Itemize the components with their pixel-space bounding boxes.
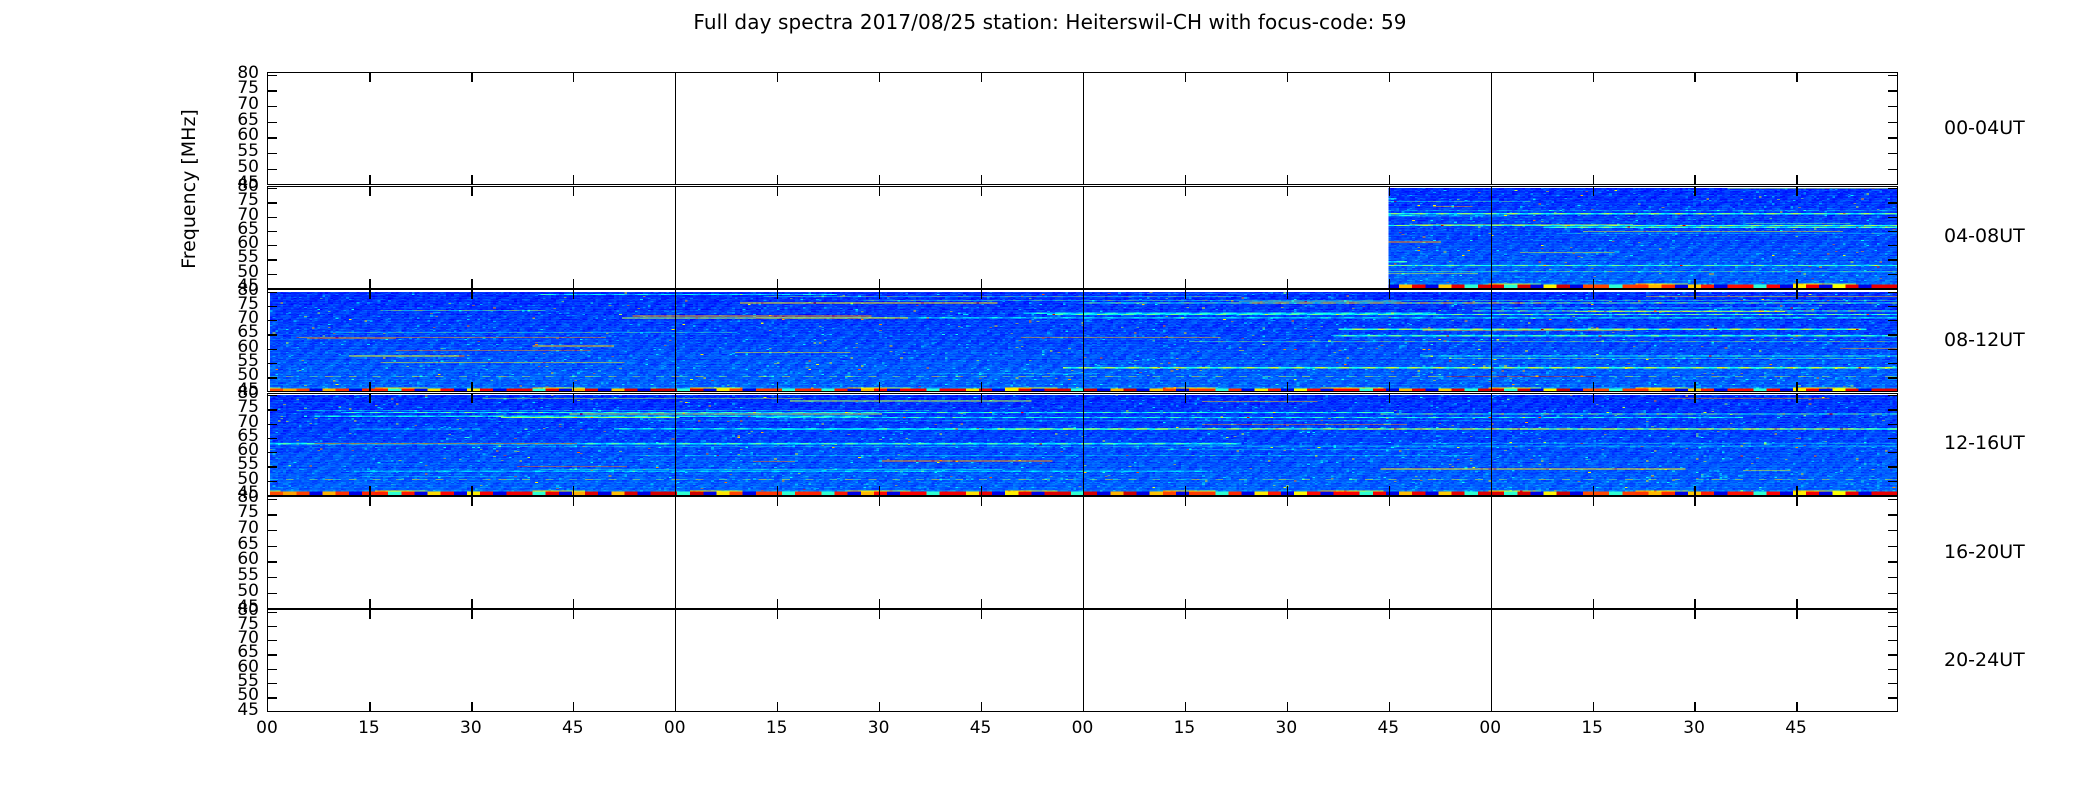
x-tick-mark	[471, 382, 472, 391]
spectrogram-figure: Full day spectra 2017/08/25 station: Hei…	[0, 0, 2100, 800]
y-tick-mark	[268, 259, 277, 260]
x-tick-mark	[1694, 279, 1695, 288]
x-tick-mark	[879, 599, 880, 608]
x-tick-mark	[1796, 497, 1797, 506]
x-tick-mark	[981, 486, 982, 495]
x-tick-mark	[1287, 290, 1288, 299]
x-tick-label: 45	[1366, 718, 1410, 738]
y-tick-mark	[1888, 712, 1897, 713]
x-tick-mark	[1287, 187, 1288, 196]
y-tick-mark	[268, 409, 277, 410]
x-tick-mark	[1694, 73, 1695, 82]
y-tick-mark	[1888, 654, 1897, 655]
y-tick-mark	[268, 577, 277, 578]
panel-time-label-16-20ut: 16-20UT	[1944, 541, 2025, 563]
x-tick-mark	[879, 73, 880, 82]
y-tick-mark	[268, 481, 277, 482]
spectrogram-panel-04-08ut[interactable]	[267, 186, 1898, 289]
y-tick-mark	[268, 499, 277, 500]
x-tick-label: 30	[1264, 718, 1308, 738]
y-tick-mark	[1888, 409, 1897, 410]
y-tick-mark	[1888, 169, 1897, 170]
x-tick-mark	[675, 702, 676, 711]
x-tick-mark	[1287, 497, 1288, 506]
y-tick-mark	[268, 626, 277, 627]
x-tick-mark	[777, 279, 778, 288]
x-tick-mark	[573, 175, 574, 184]
hour-gridline	[1491, 290, 1492, 391]
panel-time-label-04-08ut: 04-08UT	[1944, 225, 2025, 247]
x-tick-mark	[1593, 382, 1594, 391]
x-tick-mark	[1491, 382, 1492, 391]
x-tick-mark	[1796, 702, 1797, 711]
x-tick-mark	[1796, 486, 1797, 495]
x-tick-mark	[1491, 394, 1492, 403]
x-tick-mark	[1694, 599, 1695, 608]
x-tick-mark	[1083, 610, 1084, 619]
y-tick-mark	[1888, 188, 1897, 189]
x-tick-mark	[1491, 73, 1492, 82]
y-tick-mark	[268, 424, 277, 425]
x-tick-mark	[573, 394, 574, 403]
x-tick-mark	[981, 394, 982, 403]
x-tick-mark	[471, 73, 472, 82]
y-tick-mark	[268, 654, 277, 655]
x-tick-mark	[675, 290, 676, 299]
x-tick-mark	[471, 610, 472, 619]
x-tick-mark	[1389, 382, 1390, 391]
x-tick-mark	[777, 175, 778, 184]
x-tick-label: 45	[959, 718, 1003, 738]
hour-gridline	[675, 394, 676, 495]
x-tick-mark	[981, 702, 982, 711]
y-tick-mark	[268, 697, 277, 698]
x-tick-mark	[879, 290, 880, 299]
y-tick-mark	[268, 349, 277, 350]
x-tick-mark	[369, 486, 370, 495]
spectrogram-panel-08-12ut[interactable]	[267, 289, 1898, 392]
x-tick-mark	[675, 599, 676, 608]
x-tick-mark	[1287, 486, 1288, 495]
y-tick-label: 45	[213, 702, 259, 719]
x-tick-mark	[1185, 73, 1186, 82]
hour-gridline	[1491, 187, 1492, 288]
x-tick-mark	[879, 702, 880, 711]
y-tick-mark	[268, 334, 277, 335]
x-tick-mark	[369, 279, 370, 288]
y-tick-mark	[268, 274, 277, 275]
x-tick-mark	[981, 187, 982, 196]
y-axis-label: Frequency [MHz]	[178, 59, 200, 319]
x-tick-mark	[675, 394, 676, 403]
hour-gridline	[1083, 497, 1084, 608]
y-tick-mark	[1888, 697, 1897, 698]
x-tick-mark	[777, 702, 778, 711]
x-tick-mark	[1694, 187, 1695, 196]
x-tick-mark	[369, 382, 370, 391]
spectrogram-panel-20-24ut[interactable]	[267, 609, 1898, 712]
hour-gridline	[1083, 187, 1084, 288]
y-tick-mark	[1888, 75, 1897, 76]
x-tick-label: 15	[347, 718, 391, 738]
x-tick-mark	[1083, 175, 1084, 184]
y-tick-mark	[1888, 259, 1897, 260]
x-tick-label: 00	[245, 718, 289, 738]
x-tick-mark	[1185, 702, 1186, 711]
hour-gridline	[1083, 394, 1084, 495]
x-tick-mark	[573, 497, 574, 506]
y-tick-mark	[1888, 292, 1897, 293]
x-tick-mark	[981, 610, 982, 619]
x-tick-mark	[1694, 486, 1695, 495]
x-tick-mark	[777, 599, 778, 608]
y-tick-mark	[1888, 669, 1897, 670]
x-tick-mark	[369, 610, 370, 619]
x-tick-mark	[981, 382, 982, 391]
y-tick-mark	[1888, 334, 1897, 335]
x-tick-mark	[879, 394, 880, 403]
x-tick-mark	[1185, 290, 1186, 299]
hour-gridline	[1491, 394, 1492, 495]
x-tick-mark	[1287, 279, 1288, 288]
y-tick-mark	[1888, 626, 1897, 627]
y-tick-mark	[1888, 683, 1897, 684]
y-tick-mark	[1888, 245, 1897, 246]
x-tick-mark	[1185, 486, 1186, 495]
x-tick-mark	[1389, 497, 1390, 506]
y-tick-mark	[268, 292, 277, 293]
y-tick-mark	[1888, 612, 1897, 613]
x-tick-mark	[1593, 486, 1594, 495]
x-tick-mark	[369, 175, 370, 184]
x-tick-mark	[879, 382, 880, 391]
x-tick-mark	[675, 497, 676, 506]
x-tick-mark	[369, 599, 370, 608]
x-tick-mark	[369, 702, 370, 711]
y-tick-mark	[1888, 424, 1897, 425]
x-tick-mark	[1389, 279, 1390, 288]
x-tick-mark	[1287, 73, 1288, 82]
y-tick-mark	[1888, 546, 1897, 547]
x-tick-mark	[471, 290, 472, 299]
x-tick-mark	[1185, 279, 1186, 288]
x-tick-mark	[1796, 599, 1797, 608]
y-tick-mark	[268, 683, 277, 684]
x-tick-mark	[1491, 279, 1492, 288]
y-tick-mark	[268, 106, 277, 107]
y-tick-mark	[268, 188, 277, 189]
x-tick-mark	[675, 486, 676, 495]
x-tick-label: 30	[1672, 718, 1716, 738]
x-tick-mark	[1083, 382, 1084, 391]
hour-gridline	[675, 73, 676, 184]
x-tick-mark	[471, 702, 472, 711]
y-tick-mark	[1888, 122, 1897, 123]
x-tick-mark	[777, 187, 778, 196]
x-tick-mark	[981, 599, 982, 608]
x-tick-mark	[1185, 497, 1186, 506]
x-tick-mark	[777, 486, 778, 495]
x-tick-mark	[573, 702, 574, 711]
panel-time-label-08-12ut: 08-12UT	[1944, 329, 2025, 351]
x-tick-mark	[777, 382, 778, 391]
x-tick-mark	[471, 497, 472, 506]
x-tick-mark	[573, 279, 574, 288]
x-tick-mark	[879, 279, 880, 288]
spectrogram-panel-00-04ut[interactable]	[267, 72, 1898, 185]
x-tick-mark	[573, 187, 574, 196]
y-tick-mark	[268, 75, 277, 76]
y-tick-mark	[1888, 530, 1897, 531]
y-tick-mark	[1888, 593, 1897, 594]
x-tick-mark	[1083, 497, 1084, 506]
x-tick-mark	[369, 290, 370, 299]
hour-gridline	[1083, 610, 1084, 711]
x-tick-mark	[1185, 382, 1186, 391]
x-tick-mark	[1796, 610, 1797, 619]
y-tick-mark	[268, 90, 277, 91]
y-tick-mark	[1888, 306, 1897, 307]
x-tick-mark	[1694, 382, 1695, 391]
y-tick-mark	[268, 245, 277, 246]
x-tick-mark	[777, 497, 778, 506]
x-tick-mark	[879, 497, 880, 506]
x-tick-mark	[369, 497, 370, 506]
y-tick-mark	[268, 530, 277, 531]
y-tick-mark	[268, 593, 277, 594]
x-tick-mark	[1491, 497, 1492, 506]
x-tick-mark	[1287, 702, 1288, 711]
x-tick-mark	[471, 279, 472, 288]
x-tick-mark	[1491, 702, 1492, 711]
y-tick-mark	[268, 122, 277, 123]
x-tick-mark	[1491, 290, 1492, 299]
y-tick-mark	[1888, 577, 1897, 578]
x-tick-mark	[1796, 382, 1797, 391]
x-tick-mark	[1796, 73, 1797, 82]
y-tick-mark	[1888, 640, 1897, 641]
y-tick-mark	[268, 452, 277, 453]
y-tick-mark	[1888, 438, 1897, 439]
x-tick-mark	[1389, 394, 1390, 403]
x-tick-label: 30	[857, 718, 901, 738]
x-tick-mark	[573, 599, 574, 608]
y-tick-mark	[1888, 395, 1897, 396]
y-tick-mark	[268, 466, 277, 467]
x-tick-mark	[1593, 279, 1594, 288]
x-tick-mark	[1287, 610, 1288, 619]
x-tick-mark	[777, 290, 778, 299]
x-tick-mark	[1287, 599, 1288, 608]
x-tick-mark	[1796, 175, 1797, 184]
y-tick-mark	[268, 377, 277, 378]
y-tick-mark	[268, 169, 277, 170]
x-tick-mark	[1185, 610, 1186, 619]
y-tick-mark	[1888, 499, 1897, 500]
y-tick-mark	[268, 612, 277, 613]
y-tick-mark	[268, 395, 277, 396]
x-tick-mark	[1694, 290, 1695, 299]
x-tick-mark	[1593, 394, 1594, 403]
x-tick-mark	[981, 175, 982, 184]
x-tick-mark	[879, 187, 880, 196]
x-tick-mark	[777, 610, 778, 619]
x-tick-mark	[1593, 702, 1594, 711]
x-tick-mark	[1389, 73, 1390, 82]
hour-gridline	[675, 290, 676, 391]
x-tick-mark	[1593, 497, 1594, 506]
y-tick-mark	[268, 306, 277, 307]
y-tick-mark	[1888, 217, 1897, 218]
x-tick-mark	[777, 394, 778, 403]
x-tick-mark	[1694, 175, 1695, 184]
x-tick-mark	[1389, 486, 1390, 495]
x-tick-mark	[1796, 187, 1797, 196]
hour-gridline	[1083, 290, 1084, 391]
x-tick-mark	[1694, 702, 1695, 711]
x-tick-mark	[1796, 394, 1797, 403]
x-tick-mark	[1185, 599, 1186, 608]
y-tick-mark	[268, 561, 277, 562]
x-tick-mark	[1287, 394, 1288, 403]
hour-gridline	[675, 497, 676, 608]
x-tick-mark	[573, 486, 574, 495]
x-tick-mark	[1389, 290, 1390, 299]
x-tick-label: 00	[1468, 718, 1512, 738]
x-tick-mark	[1694, 610, 1695, 619]
hour-gridline	[1083, 73, 1084, 184]
y-tick-mark	[268, 640, 277, 641]
y-tick-mark	[1888, 481, 1897, 482]
x-tick-mark	[981, 279, 982, 288]
x-tick-mark	[777, 73, 778, 82]
x-tick-label: 30	[449, 718, 493, 738]
x-tick-label: 15	[755, 718, 799, 738]
y-tick-mark	[268, 153, 277, 154]
x-tick-mark	[1083, 290, 1084, 299]
x-tick-mark	[879, 175, 880, 184]
y-tick-mark	[1888, 514, 1897, 515]
x-tick-mark	[369, 394, 370, 403]
x-tick-mark	[675, 187, 676, 196]
y-tick-mark	[1888, 320, 1897, 321]
x-tick-mark	[981, 290, 982, 299]
x-tick-mark	[1389, 610, 1390, 619]
x-tick-mark	[1083, 486, 1084, 495]
y-tick-mark	[1888, 452, 1897, 453]
x-tick-mark	[1185, 394, 1186, 403]
panel-time-label-20-24ut: 20-24UT	[1944, 649, 2025, 671]
x-tick-label: 00	[653, 718, 697, 738]
y-tick-mark	[1888, 561, 1897, 562]
x-tick-mark	[1287, 382, 1288, 391]
x-tick-mark	[1083, 599, 1084, 608]
y-tick-mark	[268, 231, 277, 232]
x-tick-mark	[1389, 175, 1390, 184]
x-tick-mark	[675, 279, 676, 288]
x-tick-mark	[471, 394, 472, 403]
spectrogram-panel-12-16ut[interactable]	[267, 393, 1898, 496]
hour-gridline	[1491, 73, 1492, 184]
x-tick-mark	[1694, 497, 1695, 506]
y-tick-mark	[1888, 363, 1897, 364]
x-tick-mark	[1083, 279, 1084, 288]
x-tick-mark	[573, 610, 574, 619]
x-tick-mark	[471, 187, 472, 196]
y-tick-mark	[1888, 231, 1897, 232]
y-tick-mark	[268, 217, 277, 218]
y-tick-mark	[1888, 202, 1897, 203]
y-tick-mark	[268, 320, 277, 321]
y-tick-mark	[268, 363, 277, 364]
x-tick-mark	[1796, 290, 1797, 299]
spectrogram-panel-16-20ut[interactable]	[267, 496, 1898, 609]
y-tick-mark	[268, 546, 277, 547]
y-tick-mark	[1888, 153, 1897, 154]
x-tick-mark	[1491, 486, 1492, 495]
y-tick-mark	[268, 202, 277, 203]
x-tick-mark	[675, 175, 676, 184]
x-tick-mark	[675, 73, 676, 82]
x-tick-mark	[1491, 175, 1492, 184]
x-tick-mark	[1389, 187, 1390, 196]
y-tick-mark	[1888, 90, 1897, 91]
figure-title: Full day spectra 2017/08/25 station: Hei…	[0, 10, 2100, 34]
hour-gridline	[675, 187, 676, 288]
y-tick-mark	[268, 669, 277, 670]
x-tick-mark	[981, 73, 982, 82]
panel-time-label-00-04ut: 00-04UT	[1944, 117, 2025, 139]
x-tick-mark	[471, 486, 472, 495]
x-tick-mark	[1083, 73, 1084, 82]
x-tick-mark	[1287, 175, 1288, 184]
x-tick-mark	[1491, 599, 1492, 608]
x-tick-mark	[1083, 187, 1084, 196]
hour-gridline	[1491, 610, 1492, 711]
x-tick-mark	[1593, 599, 1594, 608]
x-tick-mark	[1491, 610, 1492, 619]
x-tick-label: 15	[1570, 718, 1614, 738]
y-tick-mark	[1888, 377, 1897, 378]
x-tick-mark	[471, 599, 472, 608]
x-tick-mark	[675, 382, 676, 391]
x-tick-mark	[879, 610, 880, 619]
x-tick-label: 45	[551, 718, 595, 738]
x-tick-mark	[573, 382, 574, 391]
y-tick-mark	[268, 438, 277, 439]
y-tick-mark	[1888, 106, 1897, 107]
x-tick-mark	[1694, 394, 1695, 403]
x-tick-mark	[369, 187, 370, 196]
x-tick-label: 15	[1162, 718, 1206, 738]
y-tick-mark	[1888, 349, 1897, 350]
x-tick-label: 45	[1774, 718, 1818, 738]
x-tick-mark	[471, 175, 472, 184]
x-tick-mark	[1491, 187, 1492, 196]
hour-gridline	[1491, 497, 1492, 608]
y-tick-mark	[1888, 137, 1897, 138]
x-tick-mark	[1796, 279, 1797, 288]
x-tick-label: 00	[1061, 718, 1105, 738]
x-tick-mark	[1185, 175, 1186, 184]
x-tick-mark	[981, 497, 982, 506]
x-tick-mark	[1389, 702, 1390, 711]
y-tick-mark	[1888, 466, 1897, 467]
x-tick-mark	[1083, 702, 1084, 711]
x-tick-mark	[1185, 187, 1186, 196]
x-tick-mark	[573, 73, 574, 82]
x-tick-mark	[1593, 290, 1594, 299]
